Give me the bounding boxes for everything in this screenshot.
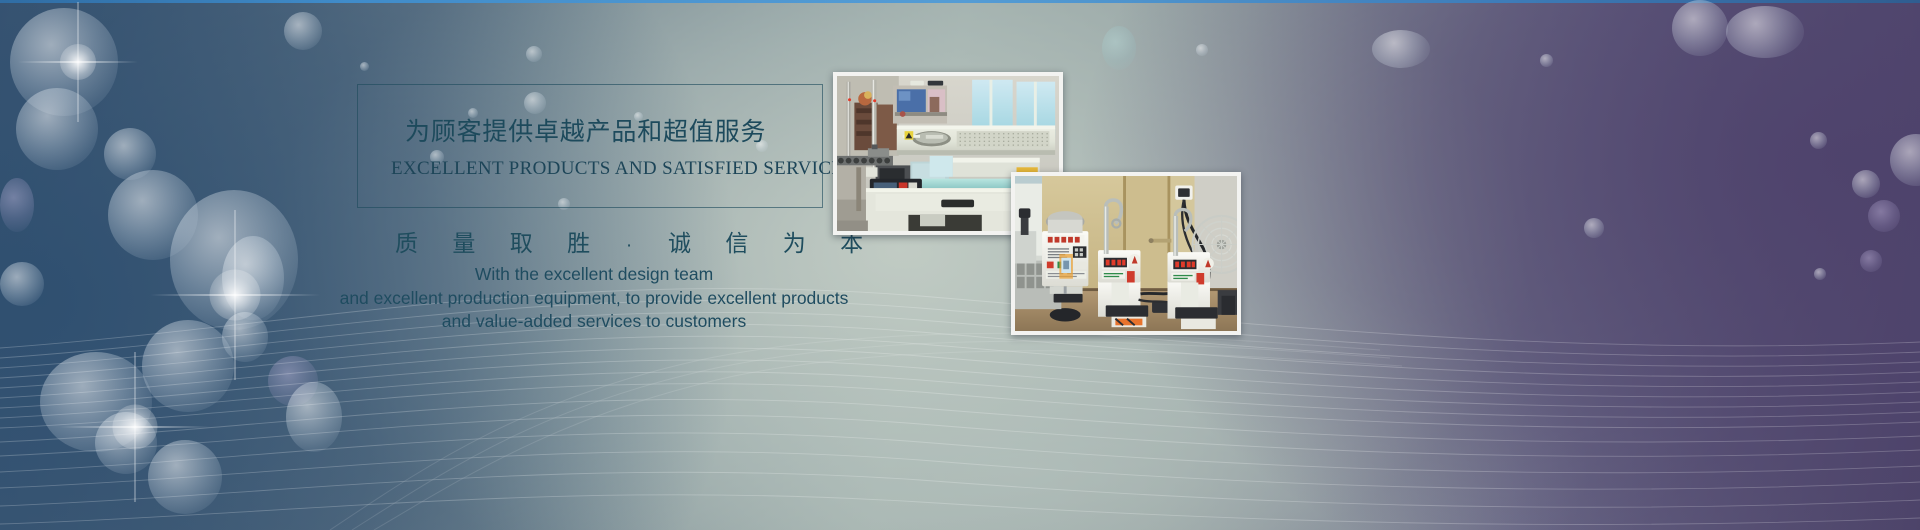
slogan-char: 质 (382, 224, 432, 258)
slogan-char: 胜 (554, 224, 604, 258)
slogan-char: 诚 (655, 224, 705, 258)
slogan-char: 取 (497, 224, 547, 258)
lens-flare (18, 2, 138, 122)
photo-riveting-press-machines (1011, 172, 1241, 335)
slogan-char: 信 (712, 224, 762, 258)
slogan-char: 为 (770, 224, 820, 258)
promotional-banner: 为顾客提供卓越产品和超值服务 EXCELLENT PRODUCTS AND SA… (0, 0, 1920, 530)
slogan-separator: · (612, 235, 648, 257)
slogan-char: 量 (439, 224, 489, 258)
description-paragraph: With the excellent design team and excel… (250, 263, 938, 334)
riveting-press-machines-image (1015, 176, 1237, 331)
top-accent-rule (0, 0, 1920, 3)
page-title: 为顾客提供卓越产品和超值服务 (405, 112, 766, 148)
page-subtitle: EXCELLENT PRODUCTS AND SATISFIED SERVICE (391, 158, 843, 180)
paragraph-line: With the excellent design team (250, 263, 938, 287)
slogan: 质 量 取 胜 · 诚 信 为 本 (382, 224, 877, 258)
paragraph-line: and value-added services to customers (250, 310, 938, 334)
paragraph-line: and excellent production equipment, to p… (250, 287, 938, 311)
